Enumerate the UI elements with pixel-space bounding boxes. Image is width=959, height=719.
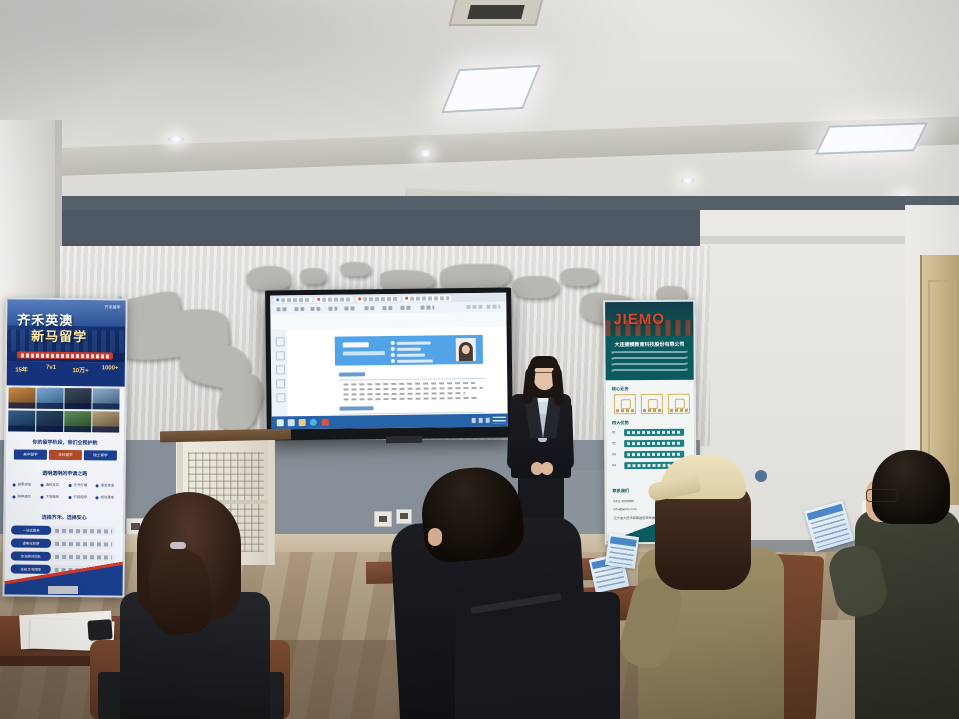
presenter-hand-right xyxy=(541,462,553,475)
process-tag: 语言承诺 xyxy=(101,482,115,487)
taskbar-clock[interactable] xyxy=(493,417,506,424)
left-banner: 齐禾英澳 新马留学 齐禾留学 15年 7v1 10万+ 1000+ 深耕留学服务… xyxy=(2,297,127,597)
contact-line: 0411-0000000 xyxy=(614,499,634,503)
start-button-icon[interactable] xyxy=(277,419,284,426)
left-banner-section-3: 选择齐禾，选择安心 xyxy=(5,513,123,521)
left-banner-section-2: 透明透明的申请之路 xyxy=(6,469,124,477)
attendee-cap-hair xyxy=(655,484,751,590)
banner-photo xyxy=(64,410,91,431)
adv-row xyxy=(624,440,684,447)
display-mount xyxy=(386,436,422,443)
resume-name xyxy=(343,342,369,347)
stage-pill: 高中留学 xyxy=(14,449,47,459)
browser-icon[interactable] xyxy=(310,419,317,426)
promise-tag: 一站式服务 xyxy=(11,525,51,534)
doc-section-heading xyxy=(340,406,374,410)
right-banner-brand: JIEMO xyxy=(613,311,665,328)
browser-tab[interactable] xyxy=(356,295,400,302)
wps-icon[interactable] xyxy=(322,419,329,426)
wall-outlet-center2[interactable] xyxy=(396,509,412,524)
left-banner-hero: 齐禾英澳 新马留学 齐禾留学 xyxy=(7,299,126,362)
process-tag: 背景评估 xyxy=(18,482,32,487)
adv-number: 01 xyxy=(612,430,616,434)
left-banner-base xyxy=(48,586,78,594)
right-banner-adv-title: 四大优势 xyxy=(612,420,629,426)
doc-section-heading xyxy=(339,372,365,376)
attendee-right-glasses xyxy=(866,489,898,502)
document-page[interactable] xyxy=(287,327,508,417)
stage-pill: 硕士留学 xyxy=(84,450,117,460)
wall-outlet-center[interactable] xyxy=(374,511,392,527)
adv-number: 03 xyxy=(612,452,616,456)
panel-light-right xyxy=(815,122,928,154)
attendee-right-body xyxy=(855,510,959,719)
left-banner-tagline xyxy=(17,351,113,359)
core-item xyxy=(641,394,663,414)
browser-tab[interactable] xyxy=(274,296,312,302)
left-banner-title-2: 新马留学 xyxy=(31,326,87,346)
core-item xyxy=(614,394,636,414)
right-banner-intro-block: 大连捷模教育科技股份有限公司 xyxy=(605,336,693,381)
banner-photo xyxy=(92,388,119,409)
downlight-2 xyxy=(681,177,694,184)
process-tag: 文书打磨 xyxy=(74,482,88,487)
adv-number: 04 xyxy=(612,463,616,467)
promise-row: 透明化收费 xyxy=(11,538,115,548)
contact-line: info@jiemo.com xyxy=(614,507,637,511)
left-banner-photo-grid xyxy=(8,387,122,432)
banner-photo xyxy=(64,388,91,409)
left-banner-stats: 15年 7v1 10万+ 1000+ 深耕留学服务 团队服务模式 留学成功案例 … xyxy=(7,361,125,386)
banner-photo xyxy=(8,410,35,431)
attendee-right-hair xyxy=(872,450,950,524)
meeting-room-photo: 齐禾英澳 新马留学 齐禾留学 15年 7v1 10万+ 1000+ 深耕留学服务… xyxy=(0,0,959,719)
interactive-flat-panel[interactable] xyxy=(265,288,513,441)
process-tag: 行前指导 xyxy=(73,494,87,499)
lectern-leg-right xyxy=(268,441,274,565)
promise-row: 一站式服务 xyxy=(11,525,115,535)
right-banner-contact-title: 联系我们 xyxy=(612,488,629,494)
doc-right-note xyxy=(483,427,505,430)
adv-row xyxy=(624,451,684,458)
attendee-center-ear xyxy=(428,528,442,546)
banner-photo xyxy=(92,411,119,432)
downlight-1 xyxy=(419,150,432,157)
mural-dark-band xyxy=(60,210,710,250)
process-tag: 下签服务 xyxy=(45,494,59,499)
door-panel xyxy=(928,280,956,474)
stat-value: 1000+ xyxy=(95,365,125,371)
right-banner-company: 大连捷模教育科技股份有限公司 xyxy=(611,341,687,349)
search-icon[interactable] xyxy=(288,419,295,426)
stat-value: 7v1 xyxy=(36,365,66,371)
resume-subtitle xyxy=(343,351,385,356)
right-banner-intro-text xyxy=(612,351,688,374)
hair-tie xyxy=(170,542,186,549)
flyer-cap-reader[interactable] xyxy=(605,533,639,569)
stat-value: 15年 xyxy=(7,364,37,373)
browser-tab[interactable] xyxy=(315,296,353,302)
stat-value: 10万+ xyxy=(66,365,96,374)
ceiling-projector-mount xyxy=(449,0,544,26)
presenter-fringe xyxy=(530,356,558,368)
adv-row xyxy=(624,429,684,436)
left-banner-logo: 齐禾留学 xyxy=(104,304,120,310)
core-item xyxy=(668,394,690,414)
file-explorer-icon[interactable] xyxy=(299,419,306,426)
promise-tag: 透明化收费 xyxy=(11,538,51,547)
banner-photo xyxy=(36,410,63,431)
right-banner-core-title: 核心业务 xyxy=(612,386,629,392)
banner-photo xyxy=(36,388,63,409)
downlight-4 xyxy=(168,136,184,143)
right-banner-photo: JIEMO xyxy=(605,302,693,337)
windows-taskbar[interactable] xyxy=(272,414,508,430)
banner-photo xyxy=(8,387,35,408)
stage-pill: 本科留学 xyxy=(49,450,82,460)
display-screen[interactable] xyxy=(270,293,508,430)
process-tag: 成功落地 xyxy=(100,494,114,499)
resume-header-card xyxy=(335,335,483,366)
promise-tag: 资深顾问团队 xyxy=(11,551,51,560)
presenter-glasses xyxy=(534,372,555,378)
adv-number: 02 xyxy=(612,441,616,445)
attendee-cap-logo xyxy=(755,470,767,482)
process-tag: 选校定位 xyxy=(46,482,60,487)
browser-tab-active[interactable] xyxy=(403,295,451,302)
resume-photo xyxy=(456,338,476,361)
left-banner-section-1: 你的留学阶段，我们全程护航 xyxy=(6,438,124,446)
process-tag: 网申递交 xyxy=(17,494,31,499)
smartphone[interactable] xyxy=(87,619,112,641)
